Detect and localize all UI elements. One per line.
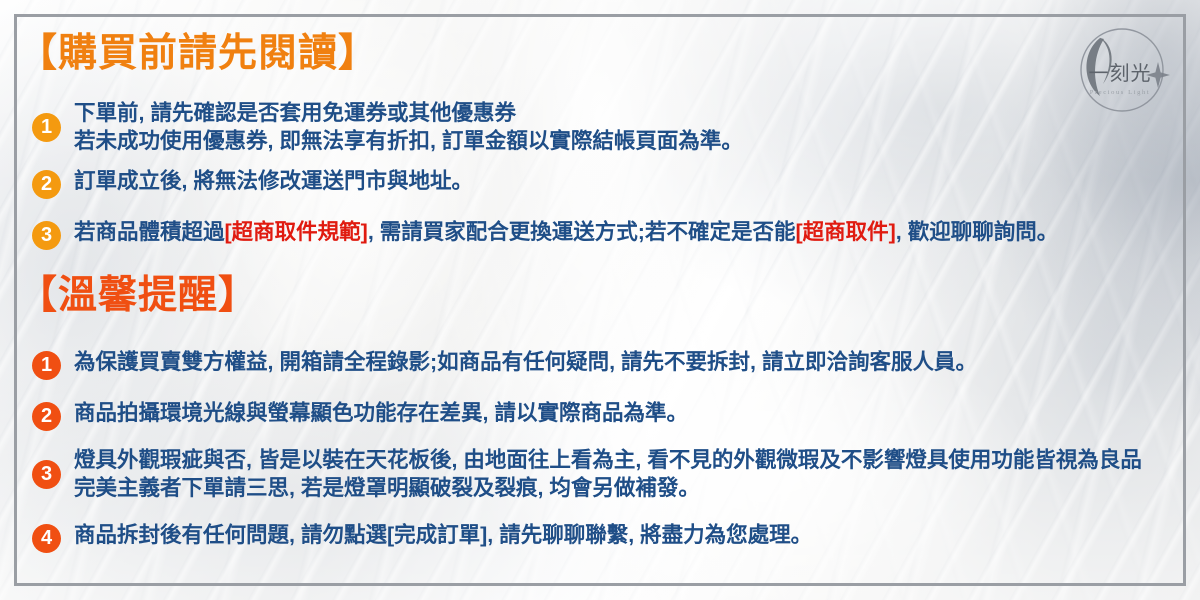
plain-text: 商品拆封後有任何問題, 請勿點選[完成訂單], 請先聊聊聯繫, 將盡力為您處理。 [74, 523, 812, 547]
plain-text: 若商品體積超過 [74, 220, 225, 244]
item-text-line: 訂單成立後, 將無法修改運送門市與地址。 [74, 167, 473, 195]
item-number-badge: 3 [32, 221, 61, 250]
highlighted-text: [超商取件規範] [225, 220, 368, 244]
item-number-badge: 3 [32, 460, 61, 489]
item-text-line: 燈具外觀瑕疵與否, 皆是以裝在天花板後, 由地面往上看為主, 看不見的外觀微瑕及… [74, 446, 1142, 474]
list-item: 4商品拆封後有任何問題, 請勿點選[完成訂單], 請先聊聊聯繫, 將盡力為您處理… [0, 521, 812, 553]
item-text: 商品拆封後有任何問題, 請勿點選[完成訂單], 請先聊聊聯繫, 將盡力為您處理。 [74, 521, 812, 549]
item-text-line: 若商品體積超過[超商取件規範], 需請買家配合更換運送方式;若不確定是否能[超商… [74, 218, 1058, 246]
item-text-line: 完美主義者下單請三思, 若是燈罩明顯破裂及裂痕, 均會另做補發。 [74, 474, 1142, 502]
item-number-badge: 2 [32, 170, 61, 199]
item-text: 若商品體積超過[超商取件規範], 需請買家配合更換運送方式;若不確定是否能[超商… [74, 218, 1058, 246]
item-number-badge: 2 [32, 402, 61, 431]
plain-text: , 需請買家配合更換運送方式;若不確定是否能 [368, 220, 796, 244]
item-number-badge: 4 [32, 524, 61, 553]
list-item: 3若商品體積超過[超商取件規範], 需請買家配合更換運送方式;若不確定是否能[超… [0, 218, 1058, 250]
section-heading-before-purchase: 【購買前請先閱讀】 [18, 34, 378, 73]
plain-text: 若未成功使用優惠券, 即無法享有折扣, 訂單金額以實際結帳頁面為準。 [74, 129, 743, 153]
item-text-line: 若未成功使用優惠券, 即無法享有折扣, 訂單金額以實際結帳頁面為準。 [74, 127, 743, 155]
item-text: 為保護買賣雙方權益, 開箱請全程錄影;如商品有任何疑問, 請先不要拆封, 請立即… [74, 348, 977, 376]
plain-text: 燈具外觀瑕疵與否, 皆是以裝在天花板後, 由地面往上看為主, 看不見的外觀微瑕及… [74, 448, 1142, 472]
list-item: 3燈具外觀瑕疵與否, 皆是以裝在天花板後, 由地面往上看為主, 看不見的外觀微瑕… [0, 446, 1142, 503]
list-item: 2訂單成立後, 將無法修改運送門市與地址。 [0, 167, 473, 199]
promo-banner: 一刻光 Precious Light 【購買前請先閱讀】1下單前, 請先確認是否… [0, 0, 1200, 600]
item-text-line: 商品拍攝環境光線與螢幕顯色功能存在差異, 請以實際商品為準。 [74, 399, 688, 427]
item-text: 訂單成立後, 將無法修改運送門市與地址。 [74, 167, 473, 195]
list-item: 1為保護買賣雙方權益, 開箱請全程錄影;如商品有任何疑問, 請先不要拆封, 請立… [0, 348, 977, 380]
item-text: 商品拍攝環境光線與螢幕顯色功能存在差異, 請以實際商品為準。 [74, 399, 688, 427]
plain-text: 商品拍攝環境光線與螢幕顯色功能存在差異, 請以實際商品為準。 [74, 401, 688, 425]
item-text: 下單前, 請先確認是否套用免運券或其他優惠券若未成功使用優惠券, 即無法享有折扣… [74, 99, 743, 156]
item-text-line: 商品拆封後有任何問題, 請勿點選[完成訂單], 請先聊聊聯繫, 將盡力為您處理。 [74, 521, 812, 549]
plain-text: 下單前, 請先確認是否套用免運券或其他優惠券 [74, 101, 516, 125]
item-number-badge: 1 [32, 351, 61, 380]
content-area: 【購買前請先閱讀】1下單前, 請先確認是否套用免運券或其他優惠券若未成功使用優惠… [0, 0, 1200, 600]
plain-text: , 歡迎聊聊詢問。 [896, 220, 1058, 244]
plain-text: 為保護買賣雙方權益, 開箱請全程錄影;如商品有任何疑問, 請先不要拆封, 請立即… [74, 350, 977, 374]
list-item: 1下單前, 請先確認是否套用免運券或其他優惠券若未成功使用優惠券, 即無法享有折… [0, 99, 743, 156]
list-item: 2商品拍攝環境光線與螢幕顯色功能存在差異, 請以實際商品為準。 [0, 399, 688, 431]
item-text: 燈具外觀瑕疵與否, 皆是以裝在天花板後, 由地面往上看為主, 看不見的外觀微瑕及… [74, 446, 1142, 503]
plain-text: 訂單成立後, 將無法修改運送門市與地址。 [74, 169, 473, 193]
item-text-line: 下單前, 請先確認是否套用免運券或其他優惠券 [74, 99, 743, 127]
item-text-line: 為保護買賣雙方權益, 開箱請全程錄影;如商品有任何疑問, 請先不要拆封, 請立即… [74, 348, 977, 376]
plain-text: 完美主義者下單請三思, 若是燈罩明顯破裂及裂痕, 均會另做補發。 [74, 476, 700, 500]
section-heading-friendly-reminder: 【溫馨提醒】 [18, 276, 258, 315]
highlighted-text: [超商取件] [795, 220, 895, 244]
item-number-badge: 1 [32, 113, 61, 142]
